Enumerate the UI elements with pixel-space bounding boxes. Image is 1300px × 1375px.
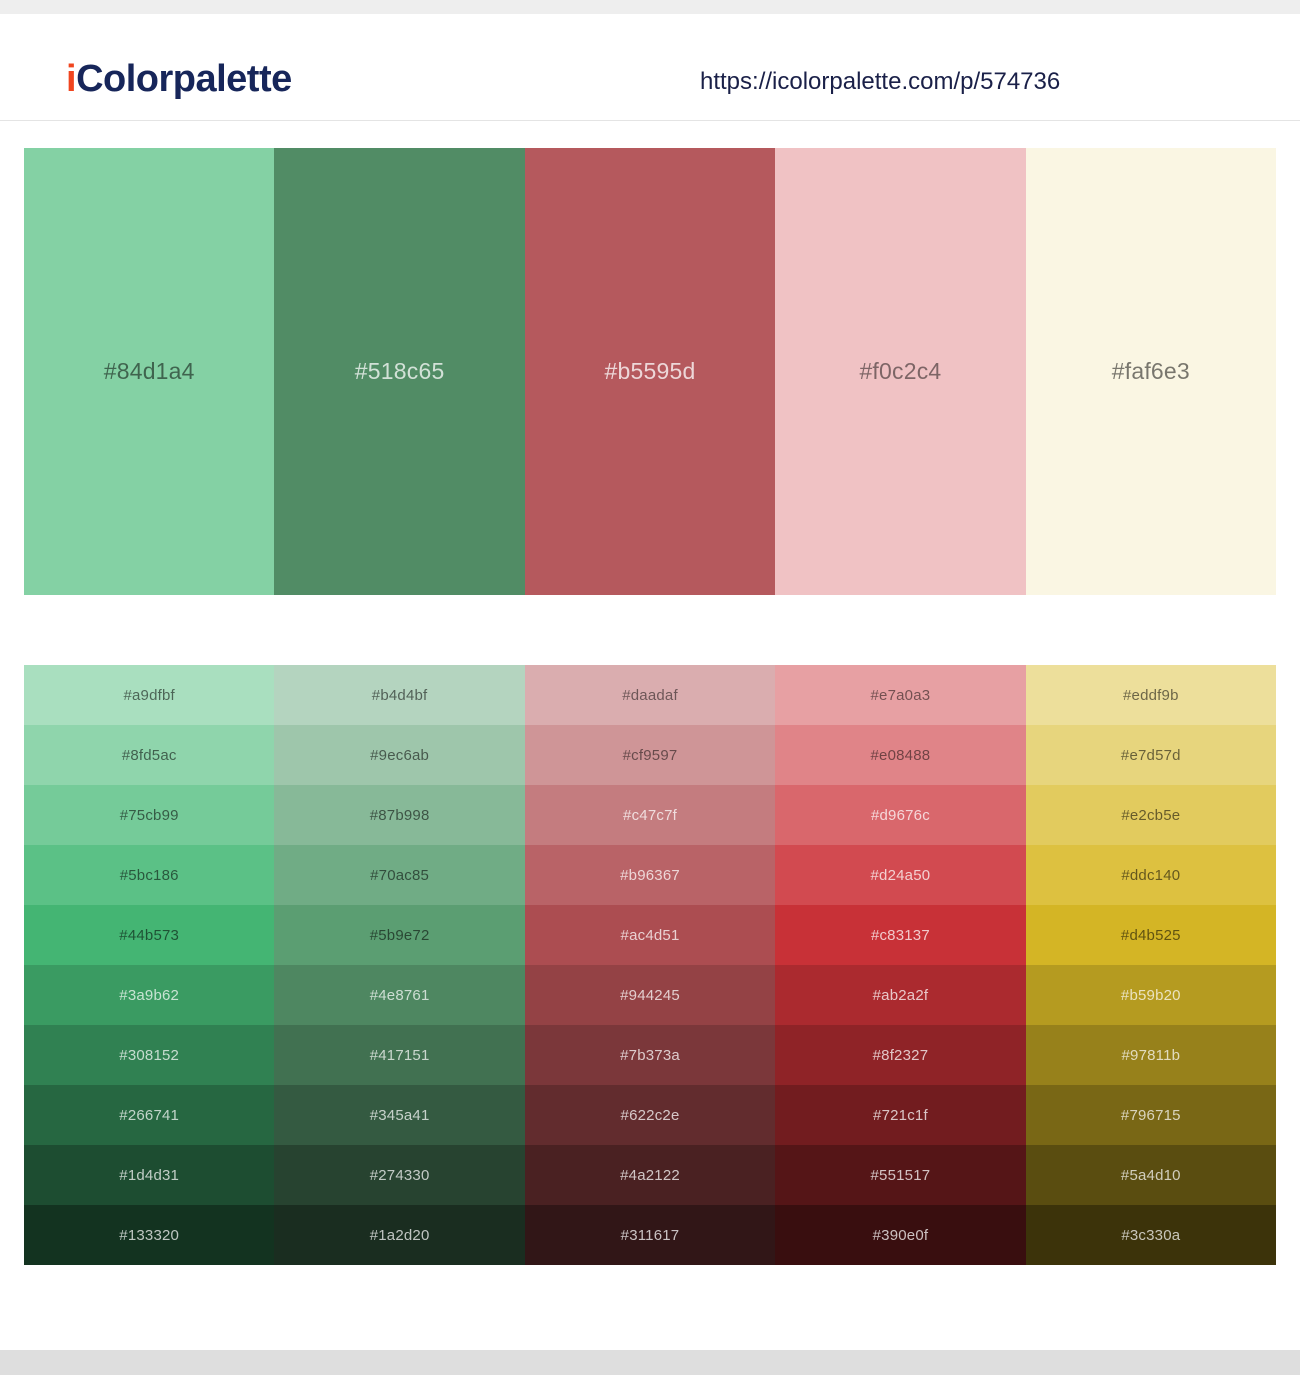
shade-swatch[interactable]: #d9676c — [775, 785, 1025, 845]
shade-swatch[interactable]: #daadaf — [525, 665, 775, 725]
shade-hex-label: #3a9b62 — [119, 987, 179, 1004]
shade-hex-label: #97811b — [1121, 1047, 1180, 1064]
shade-hex-label: #a9dfbf — [123, 687, 174, 704]
logo-wordmark: Colorpalette — [76, 58, 292, 100]
shade-swatch[interactable]: #e08488 — [775, 725, 1025, 785]
shade-column: #a9dfbf#8fd5ac#75cb99#5bc186#44b573#3a9b… — [24, 665, 274, 1265]
shade-hex-label: #b59b20 — [1121, 987, 1181, 1004]
main-palette-strip: #84d1a4#518c65#b5595d#f0c2c4#faf6e3 — [24, 148, 1276, 595]
shade-hex-label: #e7d57d — [1121, 747, 1181, 764]
shade-swatch[interactable]: #4e8761 — [274, 965, 524, 1025]
main-color-hex-label: #f0c2c4 — [859, 358, 941, 385]
shade-hex-label: #721c1f — [873, 1107, 928, 1124]
shade-hex-label: #cf9597 — [623, 747, 678, 764]
shade-hex-label: #266741 — [119, 1107, 179, 1124]
shade-swatch[interactable]: #3c330a — [1026, 1205, 1276, 1265]
shade-swatch[interactable]: #c47c7f — [525, 785, 775, 845]
shade-hex-label: #9ec6ab — [370, 747, 429, 764]
shade-swatch[interactable]: #ab2a2f — [775, 965, 1025, 1025]
shade-swatch[interactable]: #97811b — [1026, 1025, 1276, 1085]
shade-swatch[interactable]: #44b573 — [24, 905, 274, 965]
shade-swatch[interactable]: #5bc186 — [24, 845, 274, 905]
main-color-swatch[interactable]: #f0c2c4 — [775, 148, 1025, 595]
shade-hex-label: #390e0f — [873, 1227, 929, 1244]
shade-hex-label: #e08488 — [871, 747, 931, 764]
shade-hex-label: #d9676c — [871, 807, 930, 824]
shade-swatch[interactable]: #d4b525 — [1026, 905, 1276, 965]
main-palette-section: #84d1a4#518c65#b5595d#f0c2c4#faf6e3 — [0, 121, 1300, 595]
shade-swatch[interactable]: #cf9597 — [525, 725, 775, 785]
shade-hex-label: #1a2d20 — [370, 1227, 430, 1244]
shade-swatch[interactable]: #c83137 — [775, 905, 1025, 965]
shade-swatch[interactable]: #944245 — [525, 965, 775, 1025]
shade-hex-label: #75cb99 — [120, 807, 179, 824]
shade-swatch[interactable]: #ac4d51 — [525, 905, 775, 965]
shade-swatch[interactable]: #d24a50 — [775, 845, 1025, 905]
bottom-decorative-strip — [0, 1350, 1300, 1375]
shade-hex-label: #70ac85 — [370, 867, 429, 884]
shade-hex-label: #eddf9b — [1123, 687, 1179, 704]
shade-swatch[interactable]: #b4d4bf — [274, 665, 524, 725]
shade-swatch[interactable]: #70ac85 — [274, 845, 524, 905]
shade-hex-label: #4e8761 — [370, 987, 430, 1004]
shade-swatch[interactable]: #345a41 — [274, 1085, 524, 1145]
site-logo[interactable]: iColorpalette — [66, 60, 292, 98]
shade-swatch[interactable]: #390e0f — [775, 1205, 1025, 1265]
main-color-swatch[interactable]: #84d1a4 — [24, 148, 274, 595]
shade-swatch[interactable]: #e7a0a3 — [775, 665, 1025, 725]
shade-swatch[interactable]: #622c2e — [525, 1085, 775, 1145]
shade-swatch[interactable]: #75cb99 — [24, 785, 274, 845]
shade-swatch[interactable]: #a9dfbf — [24, 665, 274, 725]
shade-hex-label: #4a2122 — [620, 1167, 680, 1184]
shade-swatch[interactable]: #eddf9b — [1026, 665, 1276, 725]
shade-hex-label: #5b9e72 — [370, 927, 430, 944]
shade-column: #e7a0a3#e08488#d9676c#d24a50#c83137#ab2a… — [775, 665, 1025, 1265]
shade-hex-label: #311617 — [621, 1227, 680, 1244]
shade-swatch[interactable]: #5a4d10 — [1026, 1145, 1276, 1205]
shade-swatch[interactable]: #e2cb5e — [1026, 785, 1276, 845]
shade-swatch[interactable]: #417151 — [274, 1025, 524, 1085]
shade-hex-label: #345a41 — [370, 1107, 430, 1124]
shade-swatch[interactable]: #b59b20 — [1026, 965, 1276, 1025]
shade-swatch[interactable]: #1d4d31 — [24, 1145, 274, 1205]
shade-hex-label: #e2cb5e — [1121, 807, 1180, 824]
shade-hex-label: #e7a0a3 — [871, 687, 931, 704]
main-color-swatch[interactable]: #b5595d — [525, 148, 775, 595]
shade-hex-label: #d4b525 — [1121, 927, 1181, 944]
main-color-hex-label: #518c65 — [355, 358, 445, 385]
shade-hex-label: #b96367 — [620, 867, 680, 884]
shades-section: #a9dfbf#8fd5ac#75cb99#5bc186#44b573#3a9b… — [0, 595, 1300, 1265]
shade-swatch[interactable]: #5b9e72 — [274, 905, 524, 965]
shade-swatch[interactable]: #796715 — [1026, 1085, 1276, 1145]
shade-swatch[interactable]: #ddc140 — [1026, 845, 1276, 905]
shade-hex-label: #7b373a — [620, 1047, 680, 1064]
shade-hex-label: #308152 — [119, 1047, 179, 1064]
shade-swatch[interactable]: #b96367 — [525, 845, 775, 905]
shade-hex-label: #c47c7f — [623, 807, 677, 824]
shade-hex-label: #ab2a2f — [873, 987, 929, 1004]
shade-column: #b4d4bf#9ec6ab#87b998#70ac85#5b9e72#4e87… — [274, 665, 524, 1265]
shade-hex-label: #ddc140 — [1121, 867, 1180, 884]
shade-swatch[interactable]: #308152 — [24, 1025, 274, 1085]
site-header: iColorpalette https://icolorpalette.com/… — [0, 14, 1300, 121]
shade-hex-label: #417151 — [370, 1047, 430, 1064]
main-color-hex-label: #b5595d — [605, 358, 696, 385]
shade-swatch[interactable]: #87b998 — [274, 785, 524, 845]
shade-hex-label: #87b998 — [370, 807, 430, 824]
main-color-swatch[interactable]: #518c65 — [274, 148, 524, 595]
shade-hex-label: #8fd5ac — [122, 747, 177, 764]
shade-swatch[interactable]: #7b373a — [525, 1025, 775, 1085]
shade-hex-label: #daadaf — [622, 687, 678, 704]
shade-hex-label: #274330 — [370, 1167, 430, 1184]
shade-hex-label: #c83137 — [871, 927, 930, 944]
palette-url[interactable]: https://icolorpalette.com/p/574736 — [700, 68, 1060, 96]
main-color-hex-label: #faf6e3 — [1112, 358, 1190, 385]
top-decorative-strip — [0, 0, 1300, 14]
main-color-swatch[interactable]: #faf6e3 — [1026, 148, 1276, 595]
shade-swatch[interactable]: #274330 — [274, 1145, 524, 1205]
shade-swatch[interactable]: #133320 — [24, 1205, 274, 1265]
shade-hex-label: #133320 — [119, 1227, 179, 1244]
shade-hex-label: #5bc186 — [120, 867, 179, 884]
shade-hex-label: #8f2327 — [873, 1047, 929, 1064]
shade-swatch[interactable]: #721c1f — [775, 1085, 1025, 1145]
shade-swatch[interactable]: #3a9b62 — [24, 965, 274, 1025]
shade-swatch[interactable]: #9ec6ab — [274, 725, 524, 785]
shade-hex-label: #d24a50 — [871, 867, 931, 884]
shade-column: #daadaf#cf9597#c47c7f#b96367#ac4d51#9442… — [525, 665, 775, 1265]
shade-swatch[interactable]: #4a2122 — [525, 1145, 775, 1205]
shade-column: #eddf9b#e7d57d#e2cb5e#ddc140#d4b525#b59b… — [1026, 665, 1276, 1265]
shade-hex-label: #622c2e — [621, 1107, 680, 1124]
shade-hex-label: #944245 — [620, 987, 680, 1004]
shade-swatch[interactable]: #8fd5ac — [24, 725, 274, 785]
bottom-whitespace — [0, 1265, 1300, 1350]
shade-swatch[interactable]: #e7d57d — [1026, 725, 1276, 785]
shade-hex-label: #b4d4bf — [372, 687, 428, 704]
shade-hex-label: #551517 — [871, 1167, 931, 1184]
shade-hex-label: #1d4d31 — [119, 1167, 179, 1184]
shade-hex-label: #3c330a — [1121, 1227, 1180, 1244]
shade-hex-label: #796715 — [1121, 1107, 1181, 1124]
shades-grid: #a9dfbf#8fd5ac#75cb99#5bc186#44b573#3a9b… — [24, 665, 1276, 1265]
shade-hex-label: #5a4d10 — [1121, 1167, 1181, 1184]
shade-hex-label: #ac4d51 — [621, 927, 680, 944]
shade-swatch[interactable]: #311617 — [525, 1205, 775, 1265]
main-color-hex-label: #84d1a4 — [104, 358, 195, 385]
shade-swatch[interactable]: #8f2327 — [775, 1025, 1025, 1085]
shade-hex-label: #44b573 — [119, 927, 179, 944]
logo-letter-i: i — [66, 58, 76, 100]
shade-swatch[interactable]: #1a2d20 — [274, 1205, 524, 1265]
shade-swatch[interactable]: #266741 — [24, 1085, 274, 1145]
shade-swatch[interactable]: #551517 — [775, 1145, 1025, 1205]
